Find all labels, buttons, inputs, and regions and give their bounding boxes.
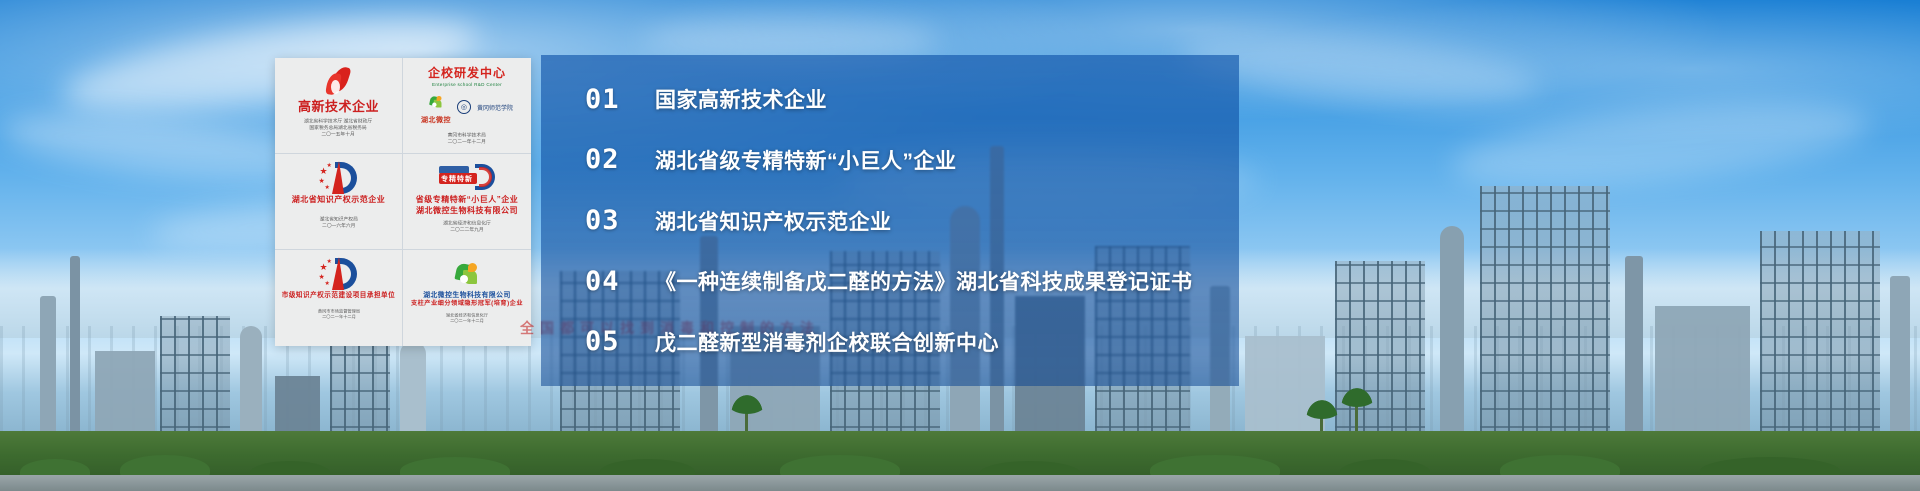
certificate-title: 市级知识产权示范建设项目承担单位 — [282, 292, 396, 299]
honor-number: 03 — [585, 205, 655, 236]
honor-label: 《一种连续制备戊二醛的方法》湖北省科技成果登记证书 — [655, 266, 1193, 296]
certificate-title-en: Enterprise school R&D Center — [432, 82, 502, 87]
honor-label: 湖北省知识产权示范企业 — [655, 206, 892, 236]
sail-star-icon: ★★ ★★ — [319, 160, 359, 196]
honor-row[interactable]: 03 湖北省知识产权示范企业 — [585, 190, 1239, 251]
honor-number: 04 — [585, 266, 655, 297]
honor-label: 湖北省级专精特新“小巨人”企业 — [655, 145, 957, 175]
zhuanjingtexin-icon: 专精特新 — [439, 160, 495, 196]
certificate-issuer: 湖北省科学技术厅 湖北省财政厅 国家税务总局湖北省税务局 二〇一五年十月 — [304, 119, 372, 138]
certificate-card[interactable]: 专精特新 省级专精特新“小巨人”企业 湖北微控生物科技有限公司 湖北省经济和信息… — [403, 154, 531, 250]
university-seal-icon: ◎ — [457, 100, 471, 114]
honor-number: 05 — [585, 326, 655, 357]
flame-icon — [324, 64, 354, 100]
green-leaf-icon — [454, 256, 480, 292]
honor-label: 国家高新技术企业 — [655, 84, 827, 114]
promo-banner: 高新技术企业 湖北省科学技术厅 湖北省财政厅 国家税务总局湖北省税务局 二〇一五… — [0, 0, 1920, 491]
certificate-title: 企校研发中心 — [428, 64, 506, 81]
certificate-company: 湖北微控生物科技有限公司 — [423, 292, 511, 299]
sail-star-icon: ★★ ★★ — [319, 256, 359, 292]
certificate-grid: 高新技术企业 湖北省科学技术厅 湖北省财政厅 国家税务总局湖北省税务局 二〇一五… — [275, 58, 531, 346]
certificate-issuer: 黄冈市科学技术局 二〇二一年十二月 — [448, 133, 486, 146]
certificate-issuer: 湖北省经济和信息化厅 二〇二二年九月 — [443, 221, 491, 234]
honor-row[interactable]: 02 湖北省级专精特新“小巨人”企业 — [585, 130, 1239, 191]
university-name: 黄冈师范学院 — [477, 103, 513, 112]
certificate-card[interactable]: ★★ ★★ 湖北省知识产权示范企业 湖北省知识产权局 二〇一六年六月 — [275, 154, 403, 250]
enterprise-rd-center-icon: 企校研发中心 Enterprise school R&D Center 湖北微控… — [421, 64, 513, 125]
certificate-issuer: 湖北省经济和信息化厅 二〇二一年十二月 — [446, 313, 488, 324]
certificate-card[interactable]: 湖北微控生物科技有限公司 支柱产业细分领域隐形冠军(培育)企业 湖北省经济和信息… — [403, 250, 531, 346]
honor-number: 02 — [585, 144, 655, 175]
certificate-card[interactable]: 企校研发中心 Enterprise school R&D Center 湖北微控… — [403, 58, 531, 154]
honor-row[interactable]: 01 国家高新技术企业 — [585, 69, 1239, 130]
honor-label: 戊二醛新型消毒剂企校联合创新中心 — [655, 327, 999, 357]
certificate-title: 支柱产业细分领域隐形冠军(培育)企业 — [411, 301, 523, 308]
certificate-card[interactable]: ★★ ★★ 市级知识产权示范建设项目承担单位 黄冈市市场监督管理局 二〇二一年十… — [275, 250, 403, 346]
honor-number: 01 — [585, 84, 655, 115]
certificate-issuer: 湖北省知识产权局 二〇一六年六月 — [319, 217, 357, 230]
company-mark: 湖北微控 — [421, 89, 451, 125]
certificate-title: 高新技术企业 — [298, 100, 379, 114]
honor-row[interactable]: 04 《一种连续制备戊二醛的方法》湖北省科技成果登记证书 — [585, 251, 1239, 312]
certificate-title: 省级专精特新“小巨人”企业 — [416, 196, 519, 205]
certificate-card[interactable]: 高新技术企业 湖北省科学技术厅 湖北省财政厅 国家税务总局湖北省税务局 二〇一五… — [275, 58, 403, 154]
certificate-issuer: 黄冈市市场监督管理局 二〇二一年十二月 — [317, 309, 359, 320]
certificate-company: 湖北微控生物科技有限公司 — [416, 207, 518, 216]
certificate-title: 湖北省知识产权示范企业 — [292, 196, 386, 205]
honors-panel: 01 国家高新技术企业 02 湖北省级专精特新“小巨人”企业 03 湖北省知识产… — [541, 55, 1239, 386]
honor-row[interactable]: 05 戊二醛新型消毒剂企校联合创新中心 — [585, 311, 1239, 372]
